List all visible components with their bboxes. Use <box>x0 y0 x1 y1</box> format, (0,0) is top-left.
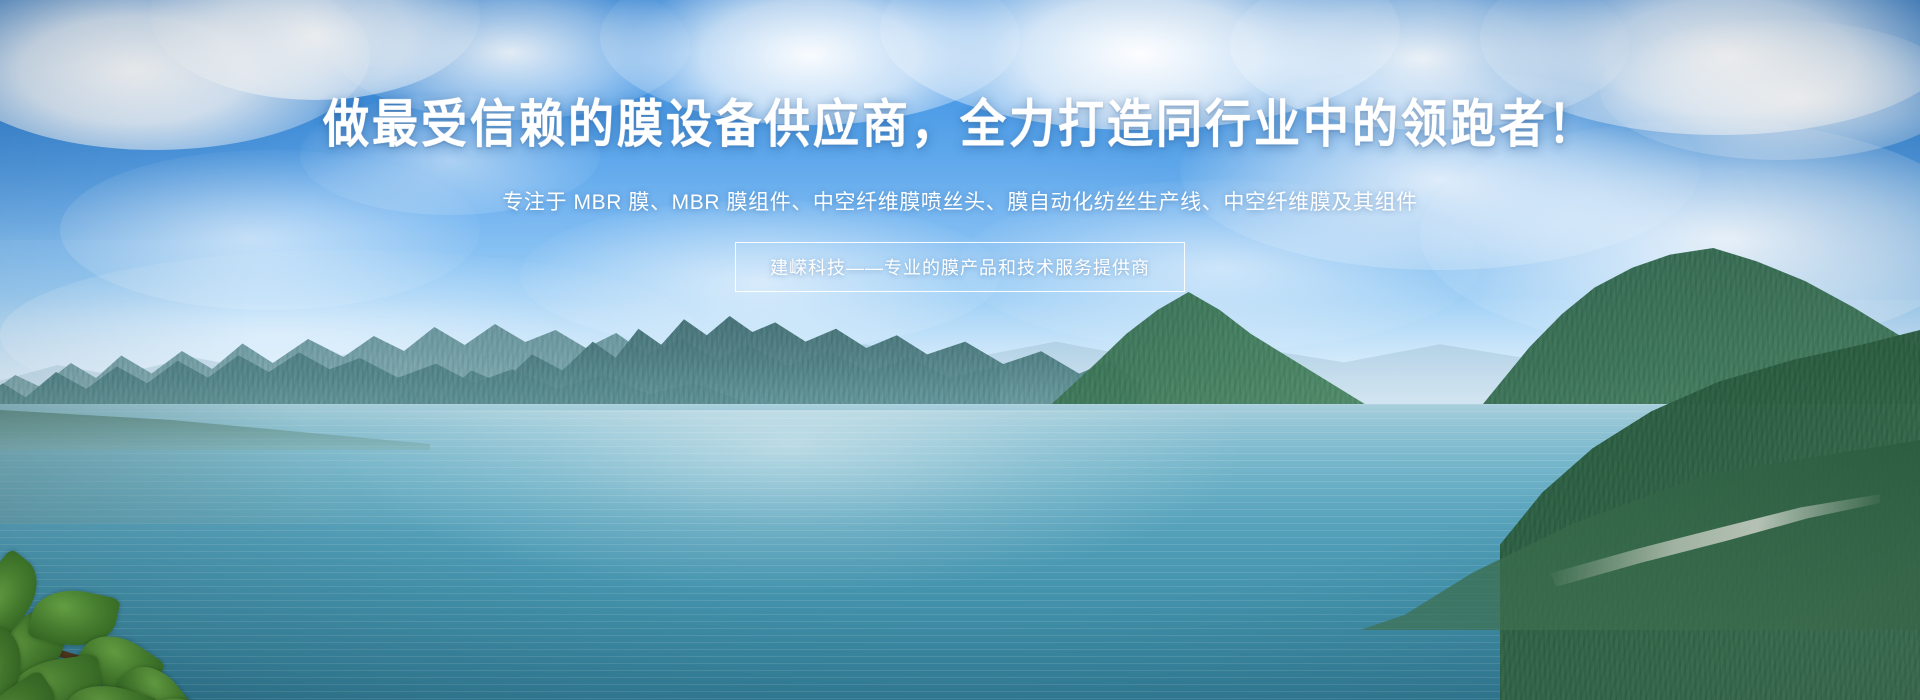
banner-copy: 做最受信赖的膜设备供应商，全力打造同行业中的领跑者！ 专注于 MBR 膜、MBR… <box>0 0 1920 700</box>
banner-headline: 做最受信赖的膜设备供应商，全力打造同行业中的领跑者！ <box>323 97 1597 153</box>
banner-subheadline: 专注于 MBR 膜、MBR 膜组件、中空纤维膜喷丝头、膜自动化纺丝生产线、中空纤… <box>502 186 1417 216</box>
banner-tagline-box: 建嵘科技——专业的膜产品和技术服务提供商 <box>735 242 1185 292</box>
hero-banner: 做最受信赖的膜设备供应商，全力打造同行业中的领跑者！ 专注于 MBR 膜、MBR… <box>0 0 1920 700</box>
